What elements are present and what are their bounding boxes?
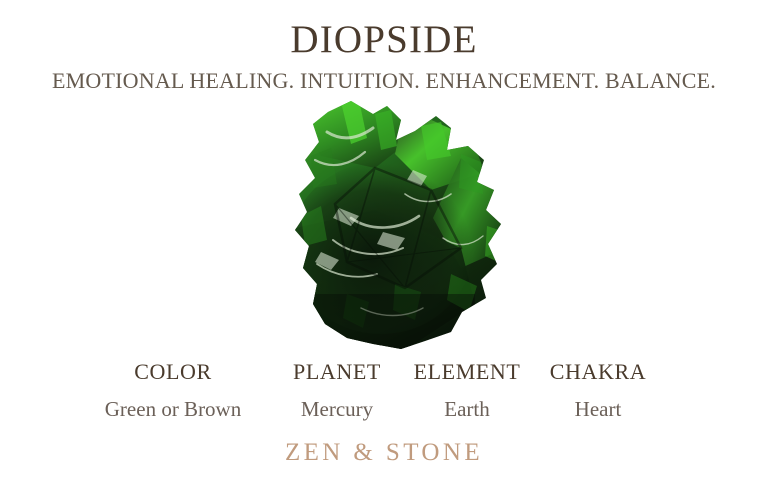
- page-subtitle: EMOTIONAL HEALING. INTUITION. ENHANCEMEN…: [0, 68, 768, 94]
- diopside-crystal-specimen: [255, 98, 515, 350]
- attributes-row: COLOR Green or Brown PLANET Mercury ELEM…: [28, 358, 740, 428]
- brand-wordmark: ZEN & STONE: [0, 438, 768, 468]
- page-title: DIOPSIDE: [0, 18, 768, 62]
- crystal-illustration: [255, 98, 515, 350]
- attribute-label-color: COLOR: [28, 358, 318, 386]
- crystal-facets: [255, 98, 515, 350]
- attribute-column-planet: PLANET Mercury: [278, 358, 396, 424]
- attribute-column-chakra: CHAKRA Heart: [503, 358, 693, 424]
- attribute-value-chakra: Heart: [503, 394, 693, 424]
- attribute-column-color: COLOR Green or Brown: [28, 358, 318, 424]
- attribute-label-planet: PLANET: [278, 358, 396, 386]
- attribute-value-color: Green or Brown: [28, 394, 318, 424]
- attribute-value-planet: Mercury: [278, 394, 396, 424]
- crystal-info-card: DIOPSIDE EMOTIONAL HEALING. INTUITION. E…: [0, 0, 768, 480]
- attribute-label-chakra: CHAKRA: [503, 358, 693, 386]
